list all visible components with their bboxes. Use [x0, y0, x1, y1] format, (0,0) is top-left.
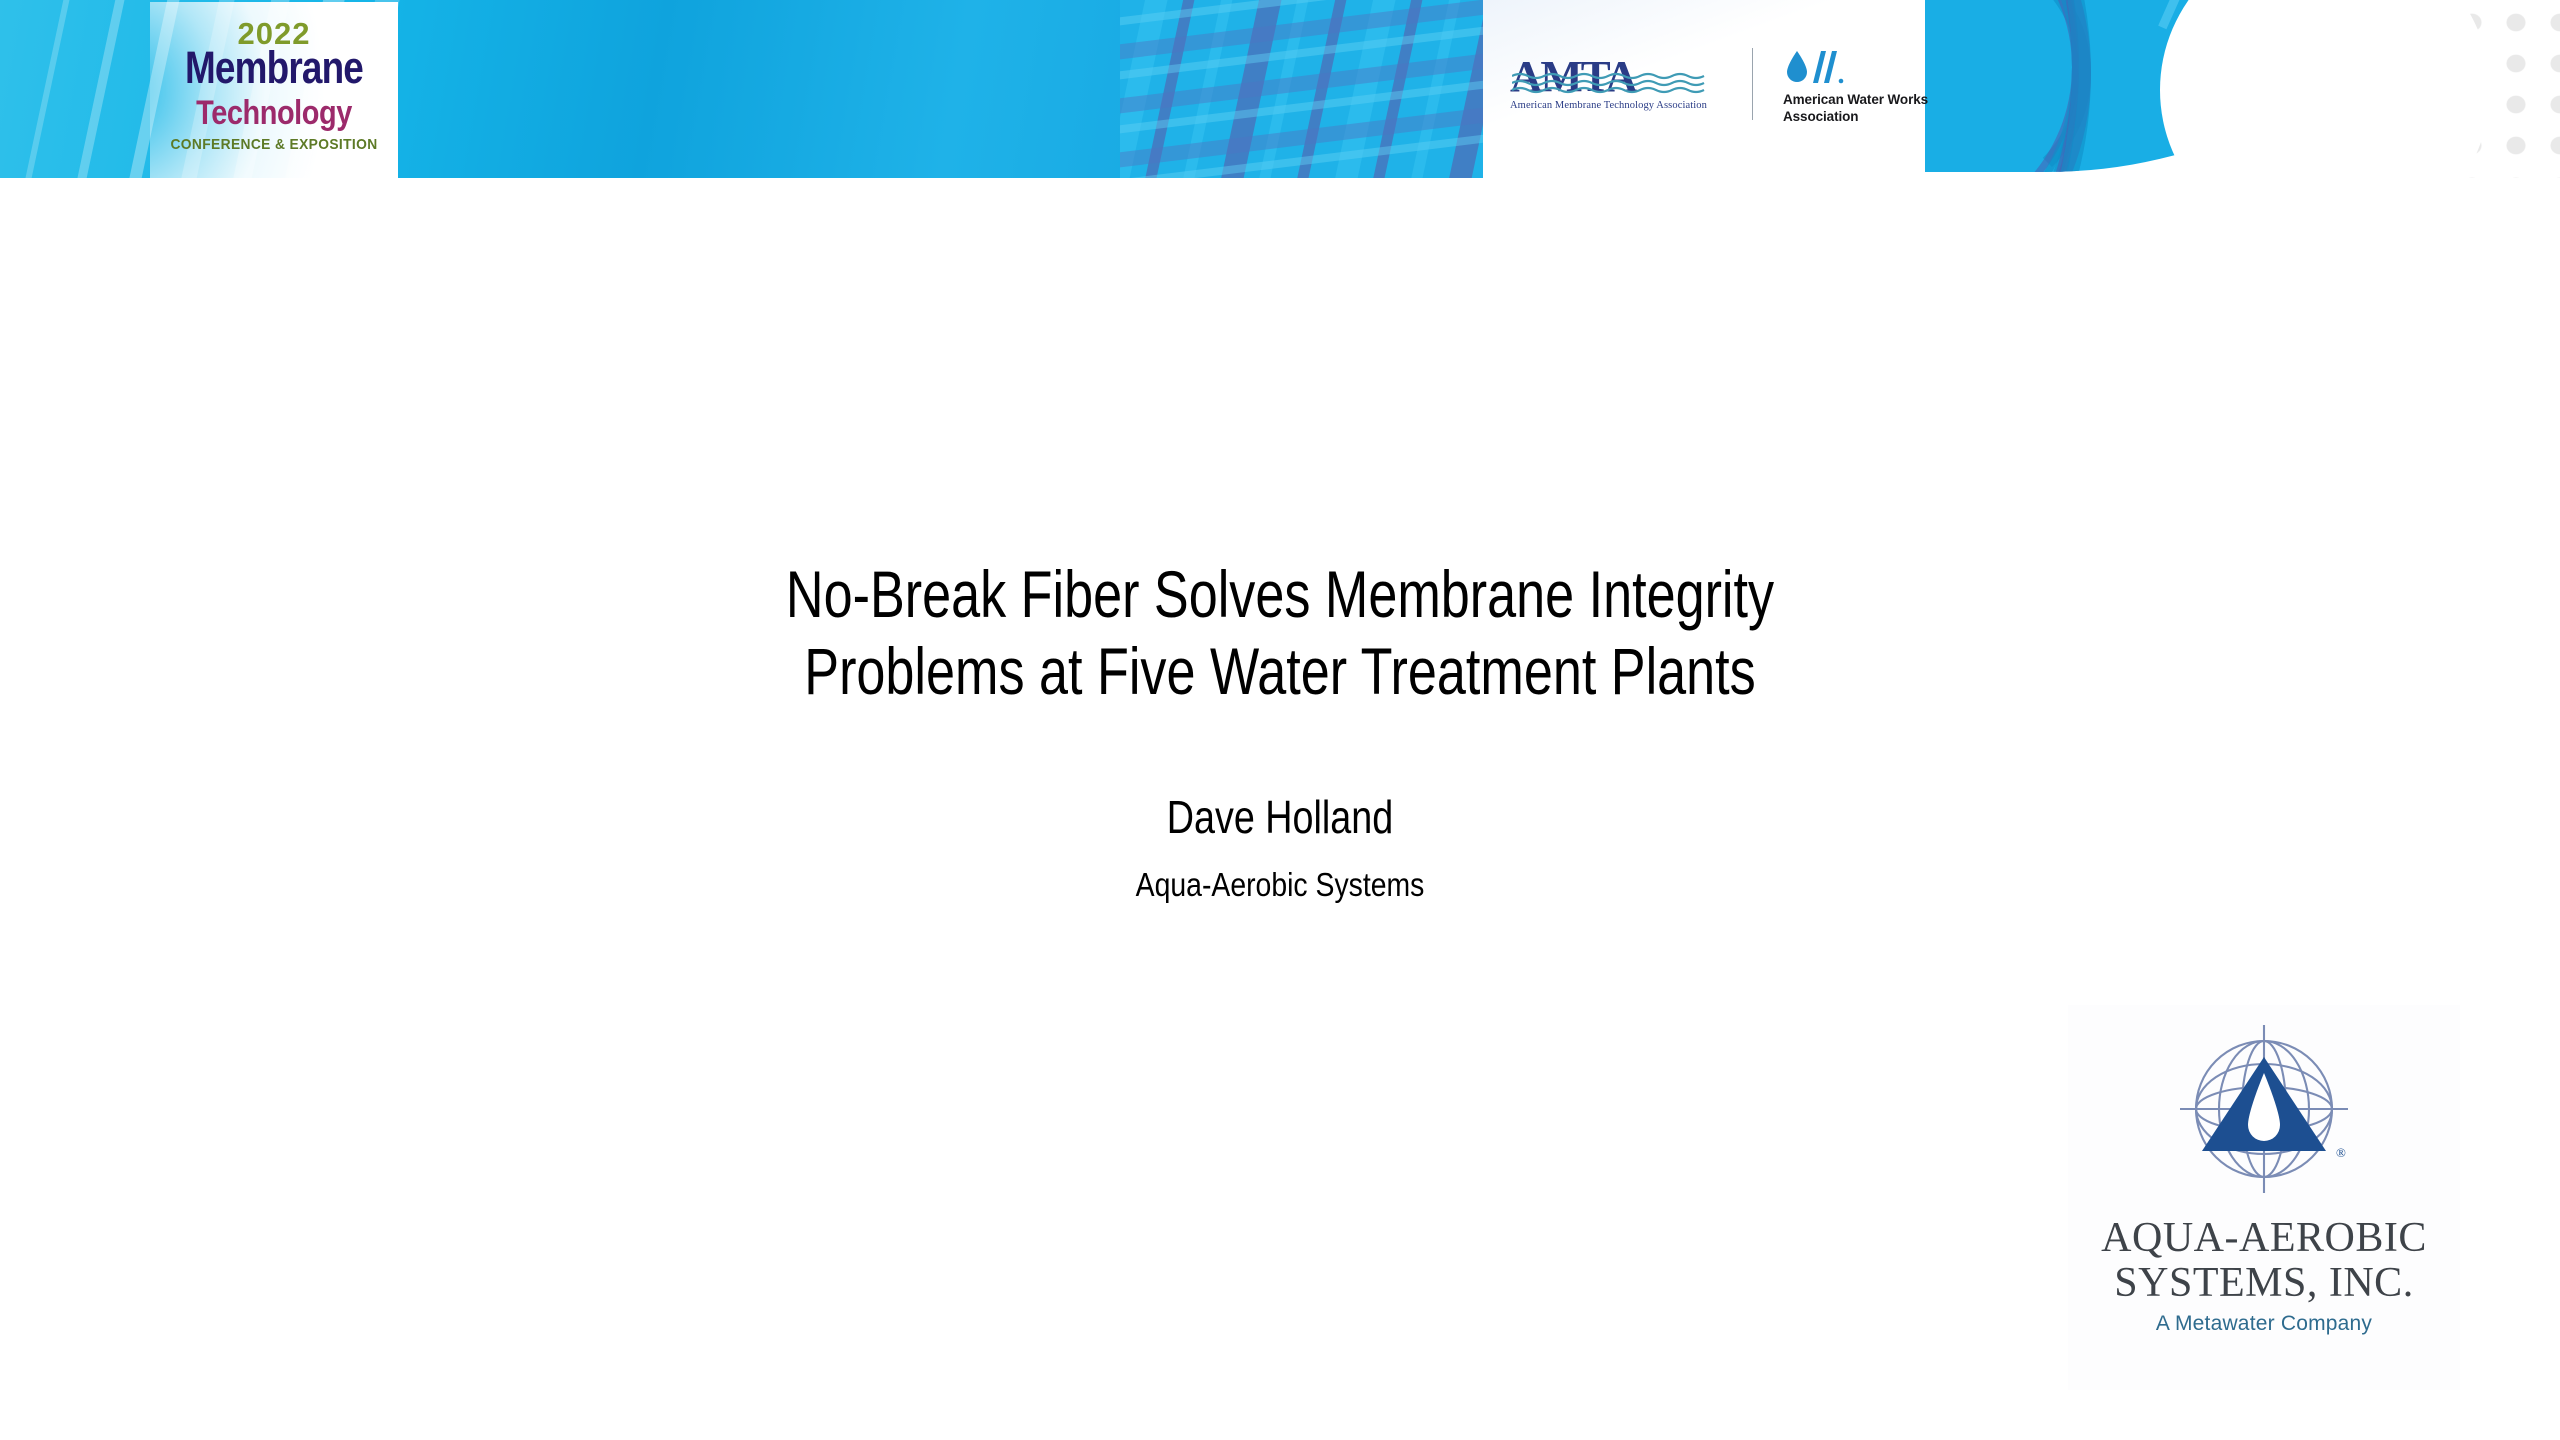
amta-logo: AMTA American Membrane Technology Associ…	[1510, 55, 1725, 125]
membrane-technology-logo: 2022 Membrane Technology CONFERENCE & EX…	[150, 2, 398, 178]
title-block: No-Break Fiber Solves Membrane Integrity…	[0, 556, 2560, 709]
banner-dot-mask	[2160, 0, 2490, 178]
aqua-logo-line1: AQUA-AEROBIC	[2068, 1214, 2460, 1262]
awwa-logo: American Water Works Association	[1783, 50, 1933, 130]
presenter-name: Dave Holland	[230, 790, 2329, 844]
aqua-logo-tagline: A Metawater Company	[2068, 1312, 2460, 1336]
registered-mark: ®	[2336, 1145, 2346, 1160]
awwa-droplet-icon	[1783, 50, 1845, 84]
banner-plaid-graphic	[1120, 0, 1485, 178]
aqua-aerobic-logo: ® AQUA-AEROBIC SYSTEMS, INC. A Metawater…	[2068, 1005, 2460, 1390]
logo-divider	[1752, 48, 1753, 120]
awwa-line2: Association	[1783, 109, 1858, 124]
presenter-affiliation: Aqua-Aerobic Systems	[179, 866, 2381, 904]
membrane-logo-line2: Technology	[169, 94, 380, 133]
awwa-line1: American Water Works	[1783, 92, 1928, 107]
presentation-title: No-Break Fiber Solves Membrane Integrity…	[269, 556, 2291, 709]
amta-tagline: American Membrane Technology Association	[1510, 100, 1725, 111]
membrane-logo-line1: Membrane	[172, 42, 375, 94]
aqua-logo-line2: SYSTEMS, INC.	[2068, 1259, 2460, 1307]
conference-banner: 2022 Membrane Technology CONFERENCE & EX…	[0, 0, 2560, 178]
aqua-globe-triangle-icon: ®	[2164, 1011, 2364, 1207]
amta-acronym: AMTA	[1510, 55, 1729, 99]
membrane-logo-line3: CONFERENCE & EXPOSITION	[160, 136, 388, 153]
